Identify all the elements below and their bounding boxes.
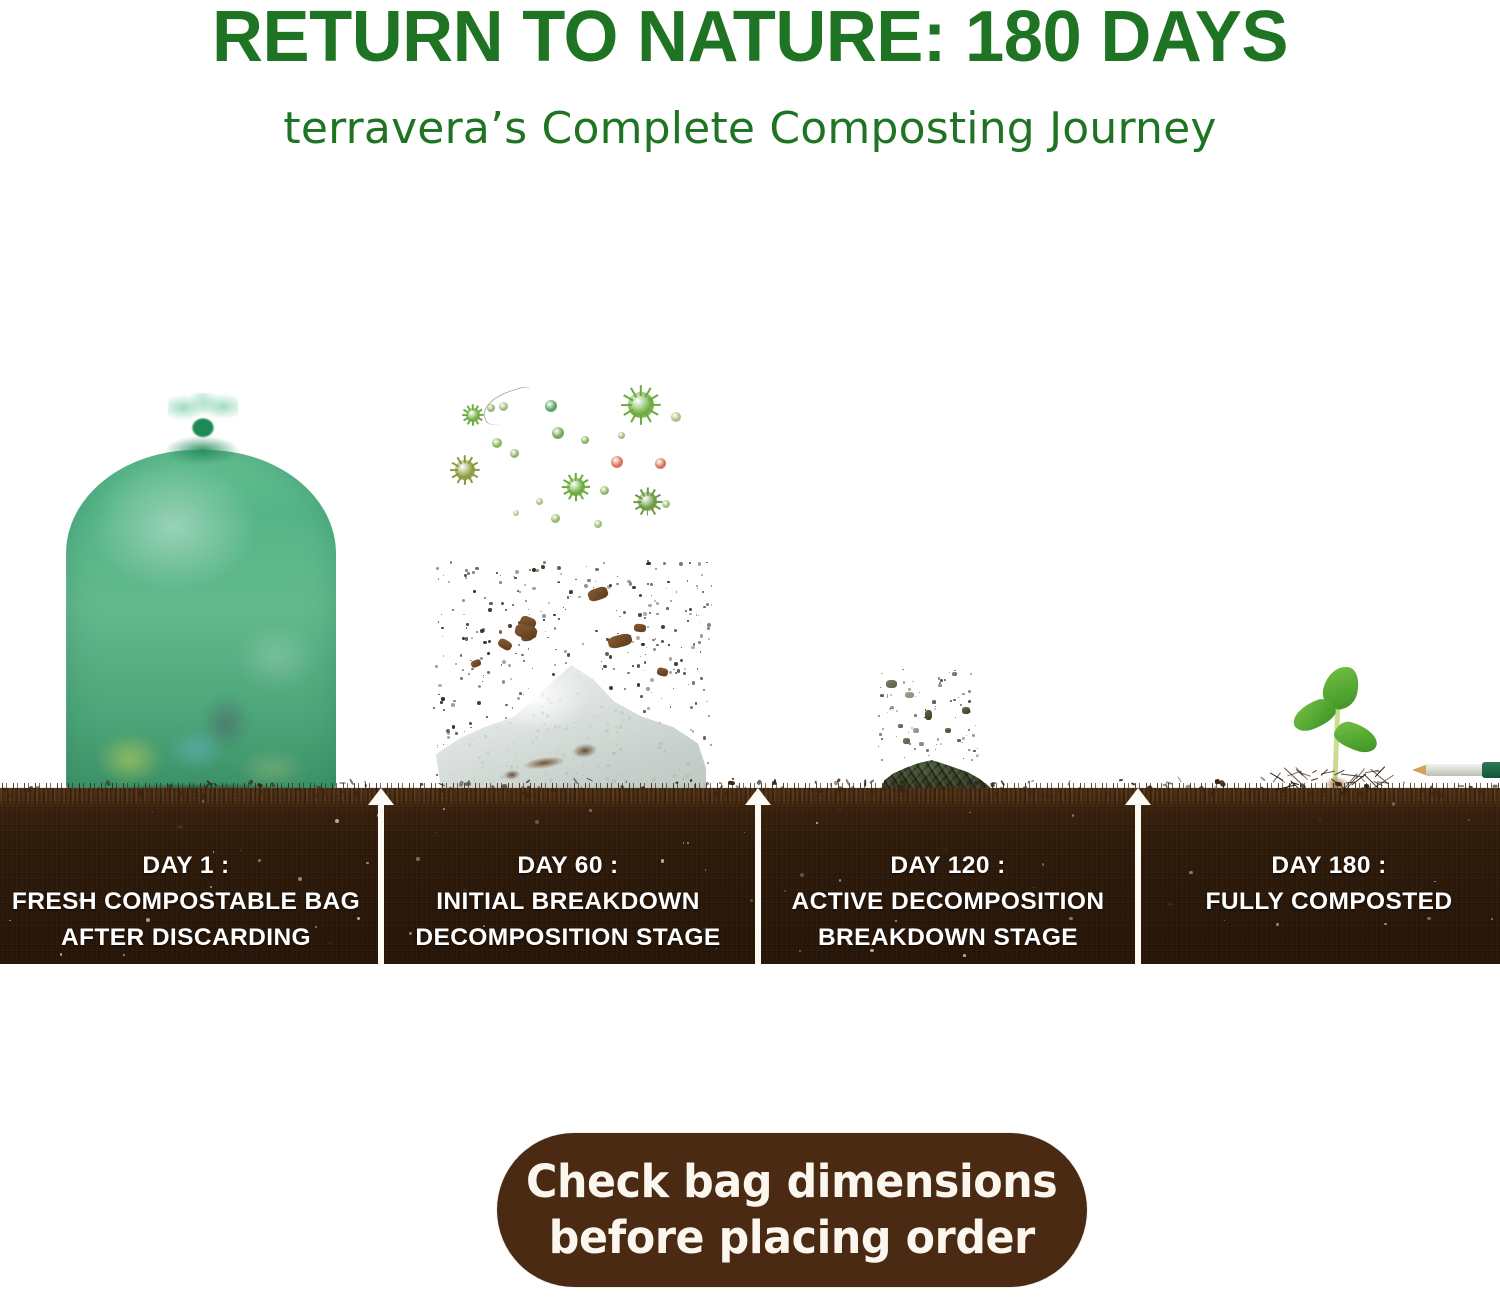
compost-speck [879,733,882,736]
soil-particle [587,579,591,583]
soil-particle [666,588,667,589]
compost-particle [919,742,924,746]
microbe-body [552,427,564,439]
soil-particle [646,563,648,565]
soil-particle [655,568,657,570]
soil-particle [547,637,548,638]
compost-speck [971,759,972,760]
compost-speck [968,700,971,703]
soil-particle [515,570,519,574]
bag-contents-blur [74,675,328,795]
soil-particle [708,638,710,640]
soil-particle [676,591,677,592]
soil-particle [616,610,617,611]
soil-particle [685,610,687,612]
soil-fleck [1392,802,1395,805]
caption-day-60: DAY 60 : INITIAL BREAKDOWN DECOMPOSITION… [398,848,738,956]
soil-particle [475,567,478,570]
soil-particle [647,583,649,585]
caption-day-label: DAY 180 : [1158,848,1500,884]
soil-particle [703,606,705,608]
compost-speck [937,738,939,740]
compost-speck [962,737,965,740]
compost-speck [890,694,892,696]
microbe-spike [470,473,478,479]
microbe-spike [640,385,642,396]
soil-particle [710,744,712,746]
microbe-spike [647,508,649,516]
microbe-body [513,510,519,516]
microbe-spike [654,501,662,503]
compost-speck [912,681,914,683]
soil-particle [441,614,442,615]
microbe-icon [581,436,589,444]
soil-particle [443,575,444,576]
soil-particle [542,614,546,618]
soil-particle [501,582,502,583]
compost-speck [950,700,952,702]
caption-day-label: DAY 120 : [778,848,1118,884]
microbe-spike [647,487,649,495]
compost-speck [889,708,891,710]
microbe-icon [510,449,519,458]
soil-particle [524,584,526,586]
soil-particle [700,634,703,637]
microbe-spike [472,420,474,426]
soil-fleck [1072,814,1074,816]
compost-speck [878,715,880,717]
soil-particle [466,627,468,629]
microbe-icon [628,392,654,418]
compost-speck [914,748,916,750]
caption-day-180: DAY 180 : FULLY COMPOSTED [1158,848,1500,920]
soil-particle [696,585,698,587]
soil-crumb [1119,779,1123,782]
soil-particle [471,637,473,639]
arrow-shaft [755,803,761,966]
soil-particle [543,561,546,564]
compost-speck [968,729,970,731]
soil-particle [448,581,450,583]
compost-speck [970,750,971,751]
caption-line-3: DECOMPOSITION STAGE [398,920,738,956]
compost-particle [913,728,919,733]
soil-particle [632,586,636,590]
filament-icon [479,385,538,429]
soil-particle [464,574,467,577]
compost-speck [935,703,936,704]
compost-speck [881,673,882,674]
soil-particle [698,562,702,566]
arrow-shaft [1135,803,1141,966]
soil-particle [595,568,598,571]
microbe-icon [611,456,623,468]
caption-line-3: AFTER DISCARDING [0,920,372,956]
soil-fleck [443,808,445,810]
compost-speck [976,754,979,757]
soil-particle [699,622,700,623]
soil-particle [569,590,573,594]
soil-particle [565,609,566,610]
microbe-icon [594,520,602,528]
compost-speck [914,714,917,717]
compost-speck [896,710,898,712]
microbe-spike [650,404,661,406]
compost-speck [915,696,917,698]
compost-speck [902,669,904,671]
soil-particle [711,585,713,587]
soil-fleck [687,842,689,844]
soil-particle [670,600,672,602]
soil-crumb [728,780,736,785]
soil-particle [578,596,581,599]
soil-particle [570,596,571,597]
tool-handle [1482,762,1500,778]
microbe-body [545,400,557,412]
compost-particle [968,690,971,693]
soil-particle [540,611,542,613]
compostable-bag-body [66,450,336,795]
compost-speck [881,738,883,740]
soil-crumb [339,782,346,784]
soil-particle [706,701,708,703]
soil-fleck [202,800,205,803]
soil-particle [586,566,587,567]
seedling-leaf-right [1331,718,1380,755]
compost-speck [975,725,976,726]
soil-crumb [354,790,359,795]
compost-speck [903,681,906,684]
microbe-icon [552,427,564,439]
soil-particle [463,614,465,616]
soil-particle [656,613,658,615]
microbe-icon [466,408,480,422]
soil-particle [563,607,564,608]
soil-fleck [816,822,818,824]
compost-speck [935,749,936,750]
soil-particle [529,614,531,616]
soil-fleck [1468,819,1469,820]
check-bag-dimensions-button[interactable]: Check bag dimensions before placing orde… [497,1133,1087,1287]
soil-particle [433,707,434,708]
soil-particle [508,624,512,628]
soil-crumb [365,784,367,787]
microbe-icon [545,400,557,412]
page-subtitle: terravera’s Complete Composting Journey [0,103,1500,154]
soil-particle [575,579,576,580]
soil-particle [650,583,653,586]
soil-particle [472,571,476,575]
caption-line-3: BREAKDOWN STAGE [778,920,1118,956]
soil-particle [525,600,527,602]
soil-particle [595,630,597,632]
soil-particle [679,562,683,566]
soil-particle [473,590,476,593]
microbe-icon [600,486,609,495]
microbe-body [671,412,681,422]
soil-particle [438,578,440,580]
divider-arrow-2 [745,788,771,966]
soil-crumb [1244,793,1245,796]
soil-particle [462,599,465,602]
compost-speck [962,693,965,696]
soil-particle [513,576,514,577]
soil-particle [698,615,699,616]
soil-particle [667,581,669,583]
compost-speck [970,673,973,676]
soil-chunk [634,623,647,632]
microbe-body [600,486,609,495]
compost-speck [882,728,884,730]
compost-speck [936,744,938,746]
soil-particle [465,577,467,579]
microbe-body [510,449,519,458]
divider-arrow-3 [1125,788,1151,966]
bag-knot [168,393,238,449]
microbe-spike [621,404,632,406]
compost-speck [949,672,950,673]
soil-particle [450,561,453,564]
microbe-body [655,458,666,469]
microbe-spike [462,414,468,416]
soil-particle [489,602,493,606]
soil-particle [643,612,647,616]
microbe-icon [492,438,502,448]
soil-particle [593,587,594,588]
soil-particle [696,614,698,616]
tool-shaft [1426,764,1486,776]
compost-particle [938,684,942,687]
soil-particle [512,604,514,606]
soil-particle [649,612,651,614]
soil-particle [707,762,709,764]
compost-speck [934,708,936,710]
compost-particle [898,724,903,728]
soil-particle [452,609,454,611]
microbe-icon [671,412,681,422]
microbe-icon [618,432,625,439]
compost-particle [905,692,914,698]
soil-particle [595,581,596,582]
soil-particle [661,625,665,629]
soil-crumb [869,789,874,795]
microbe-spike [464,477,466,485]
soil-particle [466,623,469,626]
soil-particle [488,608,492,612]
soil-crumb [1045,792,1050,799]
microbe-spike [575,493,577,501]
caption-day-120: DAY 120 : ACTIVE DECOMPOSITION BREAKDOWN… [778,848,1118,956]
soil-crumb [202,794,206,799]
soil-particle [647,626,649,628]
soil-particle [647,562,650,565]
soil-particle [560,573,562,575]
soil-particle [442,636,443,637]
caption-line-2: FULLY COMPOSTED [1158,884,1500,920]
soil-particle [476,631,478,633]
soil-particle [689,613,691,615]
arrow-shaft [378,803,384,966]
microbe-spike [562,486,570,488]
soil-particle [496,572,498,574]
soil-particle [505,609,507,611]
compost-speck [960,704,962,706]
compost-speck [963,758,964,759]
microbe-body [662,500,670,508]
soil-particle [543,619,545,621]
soil-particle [711,604,712,605]
compost-speck [953,699,955,701]
microbe-icon [455,460,475,480]
soil-particle [674,629,677,632]
microbe-body [611,456,623,468]
soil-crumb [1177,776,1182,783]
soil-particle [663,562,667,566]
compost-speck [940,743,942,745]
page-title: RETURN TO NATURE: 180 DAYS [15,0,1485,78]
compost-speck [961,742,962,743]
compost-speck [887,696,888,697]
soil-particle [697,588,698,589]
compost-speck [977,748,979,750]
microbe-icon [551,514,560,523]
soil-particle [707,627,710,630]
compost-speck [904,757,905,758]
soil-particle [619,616,620,617]
soil-particle [532,587,535,590]
caption-day-1: DAY 1 : FRESH COMPOSTABLE BAG AFTER DISC… [0,848,372,956]
compost-speck [968,749,970,751]
microbe-body [536,498,543,505]
microbe-icon [655,458,666,469]
compost-particle [957,739,961,742]
soil-particle [554,627,556,629]
microbe-icon [513,510,519,516]
caption-day-label: DAY 1 : [0,848,372,884]
soil-particle [708,715,710,717]
soil-particle [484,597,486,599]
soil-particle [687,580,689,582]
soil-particle [536,569,539,572]
soil-particle [617,633,618,634]
microbe-body [618,432,625,439]
caption-day-label: DAY 60 : [398,848,738,884]
soil-crumb [1105,791,1109,796]
soil-particle [603,562,605,564]
compost-speck [881,759,883,761]
microbe-icon [536,498,543,505]
soil-particle [567,596,570,599]
soil-particle [528,609,529,610]
compost-speck [966,735,967,736]
microbe-body [581,436,589,444]
soil-chunk [587,585,610,603]
soil-particle [656,602,658,604]
caption-line-2: ACTIVE DECOMPOSITION [778,884,1118,920]
soil-particle [438,621,440,623]
compost-speck [919,692,921,694]
soil-particle [702,591,704,593]
infographic-canvas: RETURN TO NATURE: 180 DAYS terravera’s C… [0,0,1500,1300]
microbe-spike [650,507,656,515]
garden-tool [1412,760,1500,780]
microbe-spike [450,469,458,471]
microbe-body [492,438,502,448]
soil-particle [706,562,708,564]
soil-fleck [1384,923,1386,925]
soil-particle [553,614,556,617]
compost-speck [955,717,956,718]
cta-line-1: Check bag dimensions [526,1154,1057,1210]
microbe-icon [638,492,657,511]
soil-fleck [535,820,539,824]
soil-particle [501,602,504,605]
soil-particle [629,582,633,586]
compost-speck [926,749,929,752]
stage-visual-day-60 [436,640,706,792]
microbe-spike [640,414,642,425]
microbe-spike [464,455,466,463]
soil-fleck [335,819,339,823]
soil-particle [500,575,501,576]
soil-particle [441,627,443,629]
soil-particle [541,565,545,569]
soil-crumb [718,781,721,784]
soil-crumb [732,778,735,781]
compost-speck [973,750,975,752]
soil-particle [689,608,692,611]
compost-speck [878,746,879,747]
soil-particle [467,572,470,575]
soil-crumb [1030,780,1033,782]
soil-particle [706,603,709,606]
soil-particle [639,594,642,597]
soil-crumb [1260,776,1266,781]
compost-speck [908,732,909,733]
soil-particle [623,611,626,614]
microbe-spike [575,473,577,481]
compost-speck [887,712,888,713]
soil-particle [480,629,484,633]
compost-speck [968,710,970,712]
soil-particle [499,630,503,634]
soil-particle [607,585,611,589]
compost-speck [940,679,943,682]
soil-particle [558,618,560,620]
soil-particle [616,583,619,586]
soil-crumb [1458,784,1464,786]
soil-particle [701,574,703,576]
compost-particle [925,710,932,720]
microbe-spike [653,504,661,510]
soil-particle [617,576,618,577]
soil-particle [532,568,536,572]
compost-particle [880,694,884,697]
microbe-spike [578,492,583,499]
compost-speck [896,736,897,737]
soil-particle [666,607,669,610]
compost-speck [928,755,930,757]
microbe-body [594,520,602,528]
soil-crumb [259,790,261,794]
soil-particle [648,604,652,608]
caption-line-2: FRESH COMPOSTABLE BAG [0,884,372,920]
microbe-spike [581,489,588,494]
compost-particle [952,672,957,676]
soil-particle [687,620,689,622]
compost-speck [958,697,959,698]
soil-particle [689,562,692,565]
